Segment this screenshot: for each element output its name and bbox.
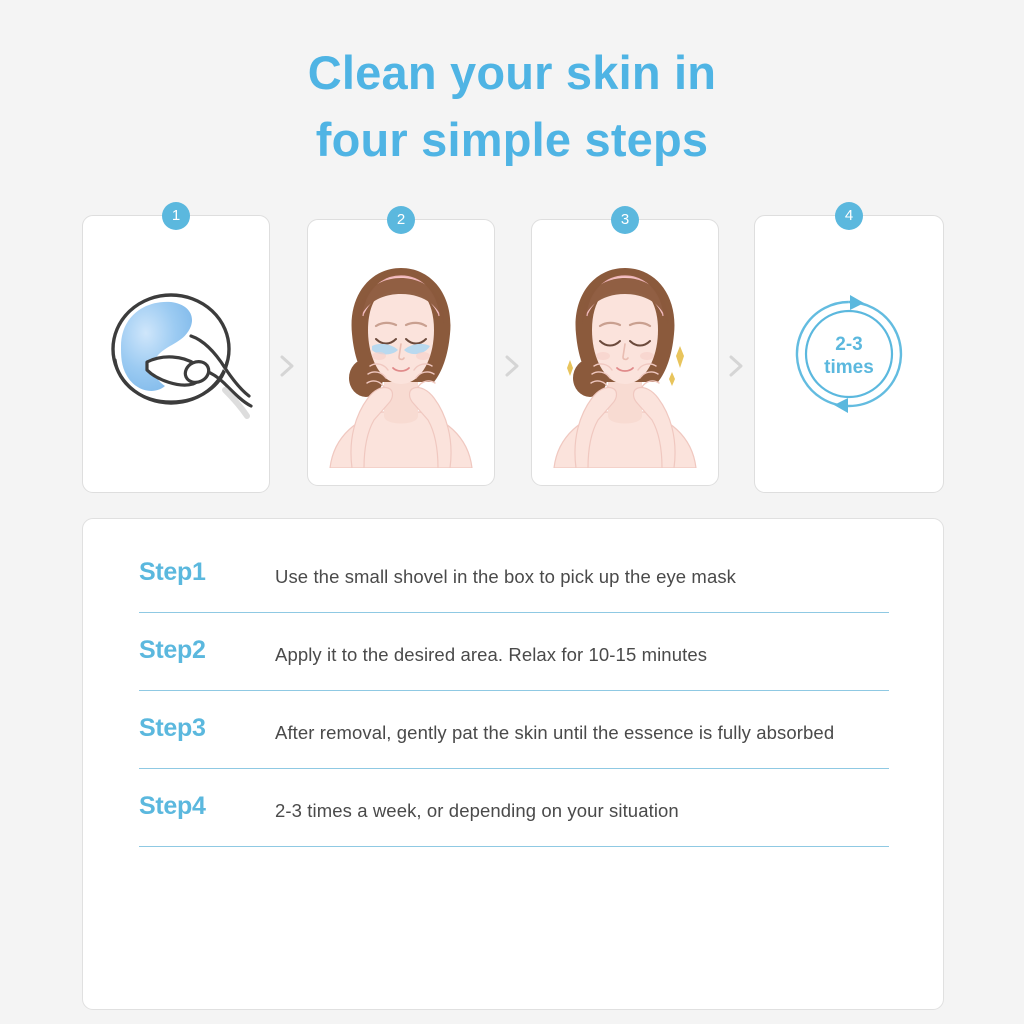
step-label: Step3 [139, 715, 275, 741]
page-title: Clean your skin in four simple steps [0, 40, 1024, 173]
step-row: Step2 Apply it to the desired area. Rela… [139, 637, 889, 691]
frequency-line-1: 2-3 [835, 334, 862, 355]
steps-list: Step1 Use the small shovel in the box to… [139, 559, 889, 847]
step-label: Step2 [139, 637, 275, 663]
face-with-eye-patches-icon [308, 220, 494, 485]
face-patting-skin-icon [532, 220, 718, 485]
step-label: Step4 [139, 793, 275, 819]
chevron-right-icon [725, 353, 747, 379]
step-text: 2-3 times a week, or depending on your s… [275, 793, 889, 826]
step-text: Apply it to the desired area. Relax for … [275, 637, 889, 670]
step-row: Step3 After removal, gently pat the skin… [139, 715, 889, 769]
step-card-2: 2 [307, 219, 495, 486]
step-card-3: 3 [531, 219, 719, 486]
step-cards-row: 1 [82, 215, 944, 495]
steps-panel: Step1 Use the small shovel in the box to… [82, 518, 944, 1010]
chevron-right-icon [276, 353, 298, 379]
step-card-4: 4 2-3 times [754, 215, 944, 493]
jar-with-shovel-icon [83, 216, 269, 492]
step-row: Step1 Use the small shovel in the box to… [139, 559, 889, 613]
step-label: Step1 [139, 559, 275, 585]
step-card-1: 1 [82, 215, 270, 493]
infographic-page: Clean your skin in four simple steps 1 [0, 0, 1024, 1024]
chevron-right-icon [501, 353, 523, 379]
step-row: Step4 2-3 times a week, or depending on … [139, 793, 889, 847]
page-title-line-1: Clean your skin in [0, 40, 1024, 107]
cycle-arrows-icon: 2-3 times [755, 216, 943, 492]
frequency-line-2: times [824, 357, 874, 378]
page-title-line-2: four simple steps [0, 107, 1024, 174]
step-text: Use the small shovel in the box to pick … [275, 559, 889, 592]
step-text: After removal, gently pat the skin until… [275, 715, 889, 748]
